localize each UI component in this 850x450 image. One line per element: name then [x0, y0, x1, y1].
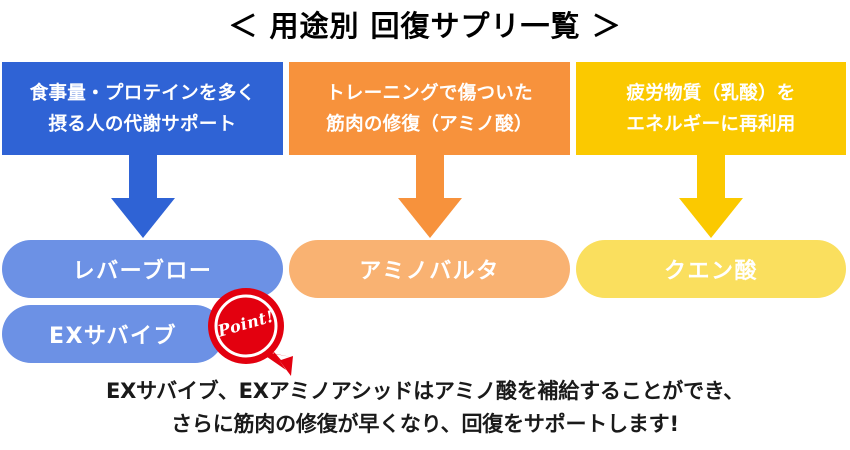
arrow-down-orange-icon	[398, 155, 462, 238]
point-badge: Point!	[207, 288, 293, 378]
header-line-2: エネルギーに再利用	[626, 109, 795, 140]
arrow-down-yellow-icon	[679, 155, 743, 238]
arrow-down-blue-icon	[111, 155, 175, 238]
header-box-metabolism-support: 食事量・プロテインを多く 摂る人の代謝サポート	[2, 62, 283, 155]
product-label: クエン酸	[664, 253, 758, 285]
product-pill-aminovaltar[interactable]: アミノバルタ	[289, 240, 570, 298]
product-pill-citric-acid[interactable]: クエン酸	[576, 240, 846, 298]
product-label: アミノバルタ	[359, 253, 500, 285]
product-pill-exsurvive[interactable]: EXサバイブ	[2, 305, 224, 363]
header-box-muscle-repair: トレーニングで傷ついた 筋肉の修復（アミノ酸）	[289, 62, 570, 155]
arrow-slot-muscle-repair	[289, 155, 570, 240]
column-lactic-acid-energy: 疲労物質（乳酸）を エネルギーに再利用 クエン酸	[576, 62, 846, 298]
page-title: ＜ 用途別 回復サプリ一覧 ＞	[0, 6, 850, 46]
speech-bubble-arrow-icon	[207, 288, 293, 378]
infographic-root: ＜ 用途別 回復サプリ一覧 ＞ 食事量・プロテインを多く 摂る人の代謝サポート …	[0, 0, 850, 450]
product-label: レバーブロー	[73, 253, 213, 285]
arrow-slot-lactic-acid-energy	[576, 155, 846, 240]
header-box-lactic-acid-energy: 疲労物質（乳酸）を エネルギーに再利用	[576, 62, 846, 155]
caption-text: EXサバイブ、EXアミノアシッドはアミノ酸を補給することができ、 さらに筋肉の修…	[0, 375, 850, 441]
caption-line-2: さらに筋肉の修復が早くなり、回復をサポートします!	[0, 408, 850, 441]
header-line-1: 疲労物質（乳酸）を	[626, 78, 795, 109]
header-line-2: 筋肉の修復（アミノ酸）	[326, 109, 533, 140]
caption-line-1: EXサバイブ、EXアミノアシッドはアミノ酸を補給することができ、	[0, 375, 850, 408]
header-line-1: 食事量・プロテインを多く	[30, 78, 256, 109]
header-line-1: トレーニングで傷ついた	[326, 78, 533, 109]
product-label: EXサバイブ	[49, 318, 177, 350]
column-muscle-repair: トレーニングで傷ついた 筋肉の修復（アミノ酸） アミノバルタ	[289, 62, 570, 298]
header-line-2: 摂る人の代謝サポート	[30, 109, 256, 140]
arrow-slot-metabolism-support	[2, 155, 283, 240]
